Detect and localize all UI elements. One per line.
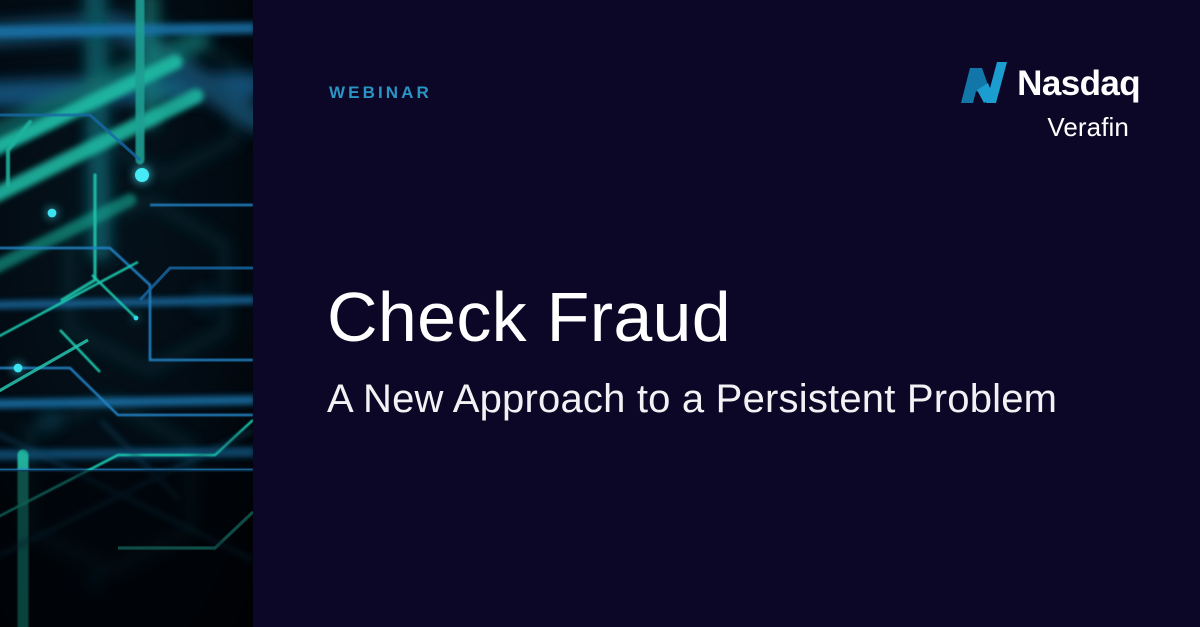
glow-node: [134, 316, 139, 321]
nasdaq-wordmark: Nasdaq: [1017, 66, 1140, 101]
eyebrow-label: WEBINAR: [329, 84, 432, 101]
verafin-subbrand: Verafin: [960, 114, 1140, 140]
logo-primary-row: Nasdaq: [960, 57, 1140, 109]
webinar-promo-banner: WEBINAR Check Fraud A New Approach to a …: [0, 0, 1200, 627]
network-circuit-illustration: [0, 0, 253, 627]
nasdaq-n-mark-icon: [958, 59, 1008, 107]
glow-node: [135, 168, 149, 182]
glow-node: [48, 209, 57, 218]
page-title: Check Fraud: [327, 282, 731, 352]
page-subtitle: A New Approach to a Persistent Problem: [327, 377, 1057, 421]
glow-node: [14, 364, 23, 373]
nasdaq-verafin-logo: Nasdaq Verafin: [960, 57, 1140, 149]
abstract-network-graphic-panel: [0, 0, 253, 627]
